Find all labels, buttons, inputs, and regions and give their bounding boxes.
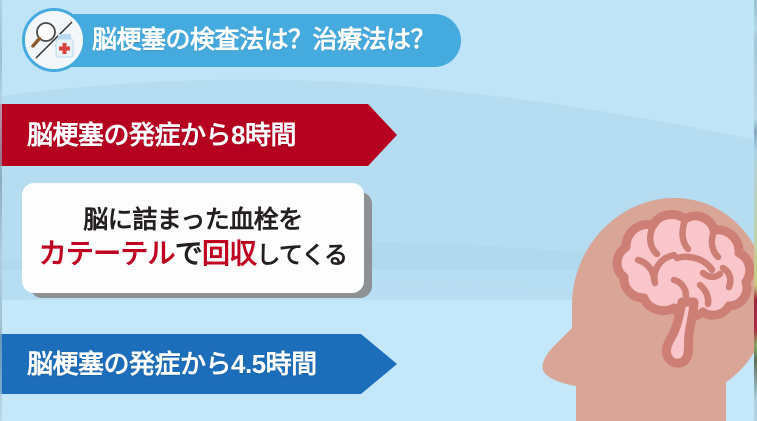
banner-blue-label: 脳梗塞の発症から4.5時間	[27, 351, 317, 377]
banner-blue-arrowhead	[361, 334, 397, 394]
callout-suffix: してくる	[256, 242, 347, 269]
header-icon-circle	[22, 8, 86, 72]
callout-particle-de: で	[175, 238, 202, 269]
banner-red-label: 脳梗塞の発症から8時間	[27, 122, 296, 148]
head-with-brain-illustration	[478, 150, 757, 421]
banner-red-body: 脳梗塞の発症から8時間	[0, 104, 368, 166]
callout-term-catheter: カテーテル	[39, 238, 175, 269]
left-edge-artifact	[0, 0, 2, 421]
banner-red-arrowhead	[368, 104, 397, 166]
callout-term-retrieve: 回収	[202, 238, 256, 269]
banner-blue-4-5hours: 脳梗塞の発症から4.5時間	[0, 334, 397, 394]
callout-line-1: 脳に詰まった血栓を	[83, 207, 303, 233]
slide-canvas: 脳梗塞の検査法は？治療法は？ 脳梗塞の発症から8時間 脳に詰まった血栓を カテー…	[0, 0, 757, 421]
page-title: 脳梗塞の検査法は？治療法は？	[92, 28, 435, 53]
banner-red-8hours: 脳梗塞の発症から8時間	[0, 104, 397, 166]
header-title-pill: 脳梗塞の検査法は？治療法は？	[30, 14, 461, 67]
callout-card: 脳に詰まった血栓を カテーテルで回収してくる	[22, 183, 364, 293]
callout-line-2: カテーテルで回収してくる	[39, 239, 348, 268]
magnifier-and-medicine-bottle-icon	[25, 11, 83, 69]
banner-blue-body: 脳梗塞の発症から4.5時間	[0, 334, 361, 394]
medicine-bottle-icon	[56, 34, 73, 57]
